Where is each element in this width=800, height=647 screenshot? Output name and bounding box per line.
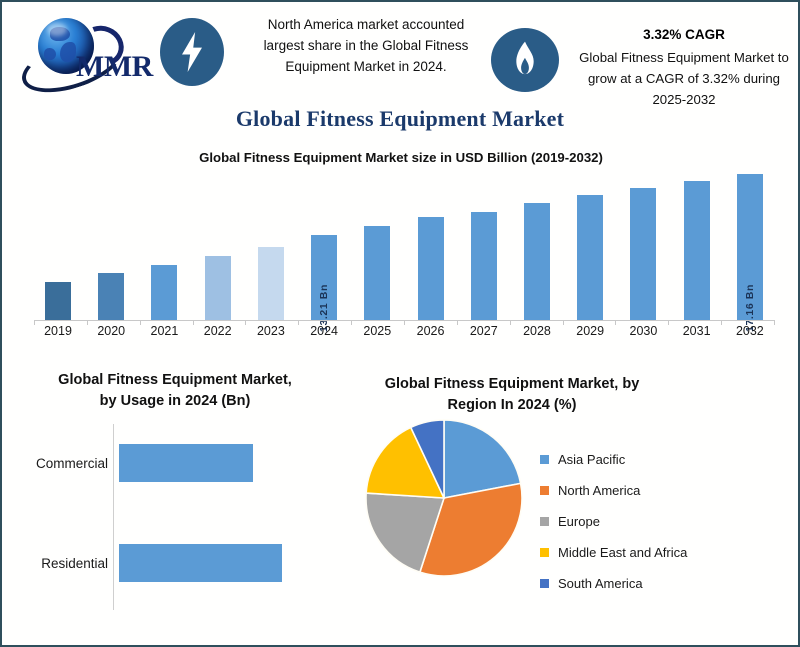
bar-column bbox=[619, 174, 667, 320]
bar-2020 bbox=[98, 273, 124, 320]
bar-column bbox=[673, 174, 721, 320]
bar-2032: 17.16 Bn bbox=[737, 174, 763, 320]
page-title: Global Fitness Equipment Market bbox=[2, 106, 798, 132]
cagr-block: 3.32% CAGR Global Fitness Equipment Mark… bbox=[578, 24, 790, 110]
legend-swatch-icon bbox=[540, 579, 549, 588]
usage-label-residential: Residential bbox=[10, 556, 114, 571]
x-tick-mark bbox=[668, 320, 669, 325]
usage-chart-title: Global Fitness Equipment Market, by Usag… bbox=[10, 370, 340, 412]
bar-2026 bbox=[418, 217, 444, 320]
bar-2031 bbox=[684, 181, 710, 320]
x-tick-2023: 2023 bbox=[247, 324, 295, 338]
bar-2021 bbox=[151, 265, 177, 320]
bar-column bbox=[140, 174, 188, 320]
x-tick-2022: 2022 bbox=[194, 324, 242, 338]
x-tick-2021: 2021 bbox=[140, 324, 188, 338]
usage-bar-commercial bbox=[119, 444, 253, 482]
x-tick-mark bbox=[140, 320, 141, 325]
x-tick-2032: 2032 bbox=[726, 324, 774, 338]
usage-title-line1: Global Fitness Equipment Market, bbox=[58, 372, 292, 388]
legend-label: North America bbox=[558, 483, 640, 498]
bar-chart-title: Global Fitness Equipment Market size in … bbox=[12, 150, 790, 165]
bar-2030 bbox=[630, 188, 656, 320]
bar-2028 bbox=[524, 203, 550, 320]
bar-column bbox=[513, 174, 561, 320]
x-tick-mark bbox=[510, 320, 511, 325]
pie-chart-legend: Asia PacificNorth AmericaEuropeMiddle Ea… bbox=[540, 444, 780, 599]
region-pie-chart: Global Fitness Equipment Market, by Regi… bbox=[342, 374, 792, 632]
x-tick-2027: 2027 bbox=[460, 324, 508, 338]
x-tick-mark bbox=[245, 320, 246, 325]
north-america-highlight-text: North America market accounted largest s… bbox=[246, 14, 486, 77]
bar-chart-plot-area: 13.21 Bn17.16 Bn bbox=[34, 174, 774, 320]
market-size-bar-chart: Global Fitness Equipment Market size in … bbox=[12, 142, 790, 357]
logo-text: MMR bbox=[76, 50, 153, 84]
x-tick-mark bbox=[404, 320, 405, 325]
x-tick-2030: 2030 bbox=[619, 324, 667, 338]
x-tick-2020: 2020 bbox=[87, 324, 135, 338]
x-tick-2024: 2024 bbox=[300, 324, 348, 338]
x-tick-mark bbox=[457, 320, 458, 325]
legend-swatch-icon bbox=[540, 455, 549, 464]
usage-row-residential: Residential bbox=[10, 544, 340, 582]
x-tick-mark bbox=[721, 320, 722, 325]
bar-2025 bbox=[364, 226, 390, 320]
lightning-bolt-icon bbox=[160, 18, 224, 86]
bar-column bbox=[247, 174, 295, 320]
x-tick-mark bbox=[351, 320, 352, 325]
usage-plot-area: CommercialResidential bbox=[10, 424, 340, 624]
bar-2024: 13.21 Bn bbox=[311, 235, 337, 320]
bar-column bbox=[34, 174, 82, 320]
bar-2022 bbox=[205, 256, 231, 320]
x-tick-mark bbox=[563, 320, 564, 325]
x-tick-mark bbox=[298, 320, 299, 325]
bar-column bbox=[407, 174, 455, 320]
usage-row-commercial: Commercial bbox=[10, 444, 340, 482]
usage-bar-residential bbox=[119, 544, 282, 582]
legend-label: Europe bbox=[558, 514, 600, 529]
bar-column bbox=[566, 174, 614, 320]
legend-item-north-america: North America bbox=[540, 475, 780, 506]
x-tick-2031: 2031 bbox=[673, 324, 721, 338]
cagr-description: Global Fitness Equipment Market to grow … bbox=[579, 50, 789, 107]
legend-label: South America bbox=[558, 576, 643, 591]
mmr-logo: MMR bbox=[14, 12, 154, 90]
cagr-headline: 3.32% CAGR bbox=[578, 24, 790, 45]
bar-2023 bbox=[258, 247, 284, 320]
legend-swatch-icon bbox=[540, 486, 549, 495]
x-tick-mark bbox=[774, 320, 775, 325]
x-tick-mark bbox=[193, 320, 194, 325]
legend-swatch-icon bbox=[540, 548, 549, 557]
pie-chart-title: Global Fitness Equipment Market, by Regi… bbox=[352, 374, 672, 416]
x-tick-2028: 2028 bbox=[513, 324, 561, 338]
bar-chart-x-tick-labels: 2019202020212022202320242025202620272028… bbox=[34, 324, 774, 338]
bar-column: 17.16 Bn bbox=[726, 174, 774, 320]
pie-title-line2: Region In 2024 (%) bbox=[448, 397, 577, 413]
header-band: MMR North America market accounted large… bbox=[2, 2, 798, 102]
legend-item-middle-east-and-africa: Middle East and Africa bbox=[540, 537, 780, 568]
x-tick-mark bbox=[615, 320, 616, 325]
legend-label: Middle East and Africa bbox=[558, 545, 687, 560]
infographic-root: MMR North America market accounted large… bbox=[0, 0, 800, 647]
legend-item-europe: Europe bbox=[540, 506, 780, 537]
bar-column bbox=[353, 174, 401, 320]
x-tick-2029: 2029 bbox=[566, 324, 614, 338]
legend-label: Asia Pacific bbox=[558, 452, 625, 467]
bar-2019 bbox=[45, 282, 71, 320]
legend-swatch-icon bbox=[540, 517, 549, 526]
pie-chart-graphic bbox=[364, 418, 524, 578]
legend-item-asia-pacific: Asia Pacific bbox=[540, 444, 780, 475]
usage-label-commercial: Commercial bbox=[10, 456, 114, 471]
legend-item-south-america: South America bbox=[540, 568, 780, 599]
x-tick-mark bbox=[87, 320, 88, 325]
x-tick-2019: 2019 bbox=[34, 324, 82, 338]
x-tick-mark bbox=[34, 320, 35, 325]
x-tick-2025: 2025 bbox=[353, 324, 401, 338]
bar-column: 13.21 Bn bbox=[300, 174, 348, 320]
pie-title-line1: Global Fitness Equipment Market, by bbox=[385, 376, 640, 392]
bar-2027 bbox=[471, 212, 497, 320]
bar-column bbox=[460, 174, 508, 320]
flame-icon bbox=[491, 28, 559, 92]
bar-column bbox=[87, 174, 135, 320]
usage-bar-chart: Global Fitness Equipment Market, by Usag… bbox=[10, 370, 340, 632]
usage-title-line2: by Usage in 2024 (Bn) bbox=[100, 393, 251, 409]
bar-2029 bbox=[577, 195, 603, 320]
x-tick-2026: 2026 bbox=[407, 324, 455, 338]
bar-column bbox=[194, 174, 242, 320]
